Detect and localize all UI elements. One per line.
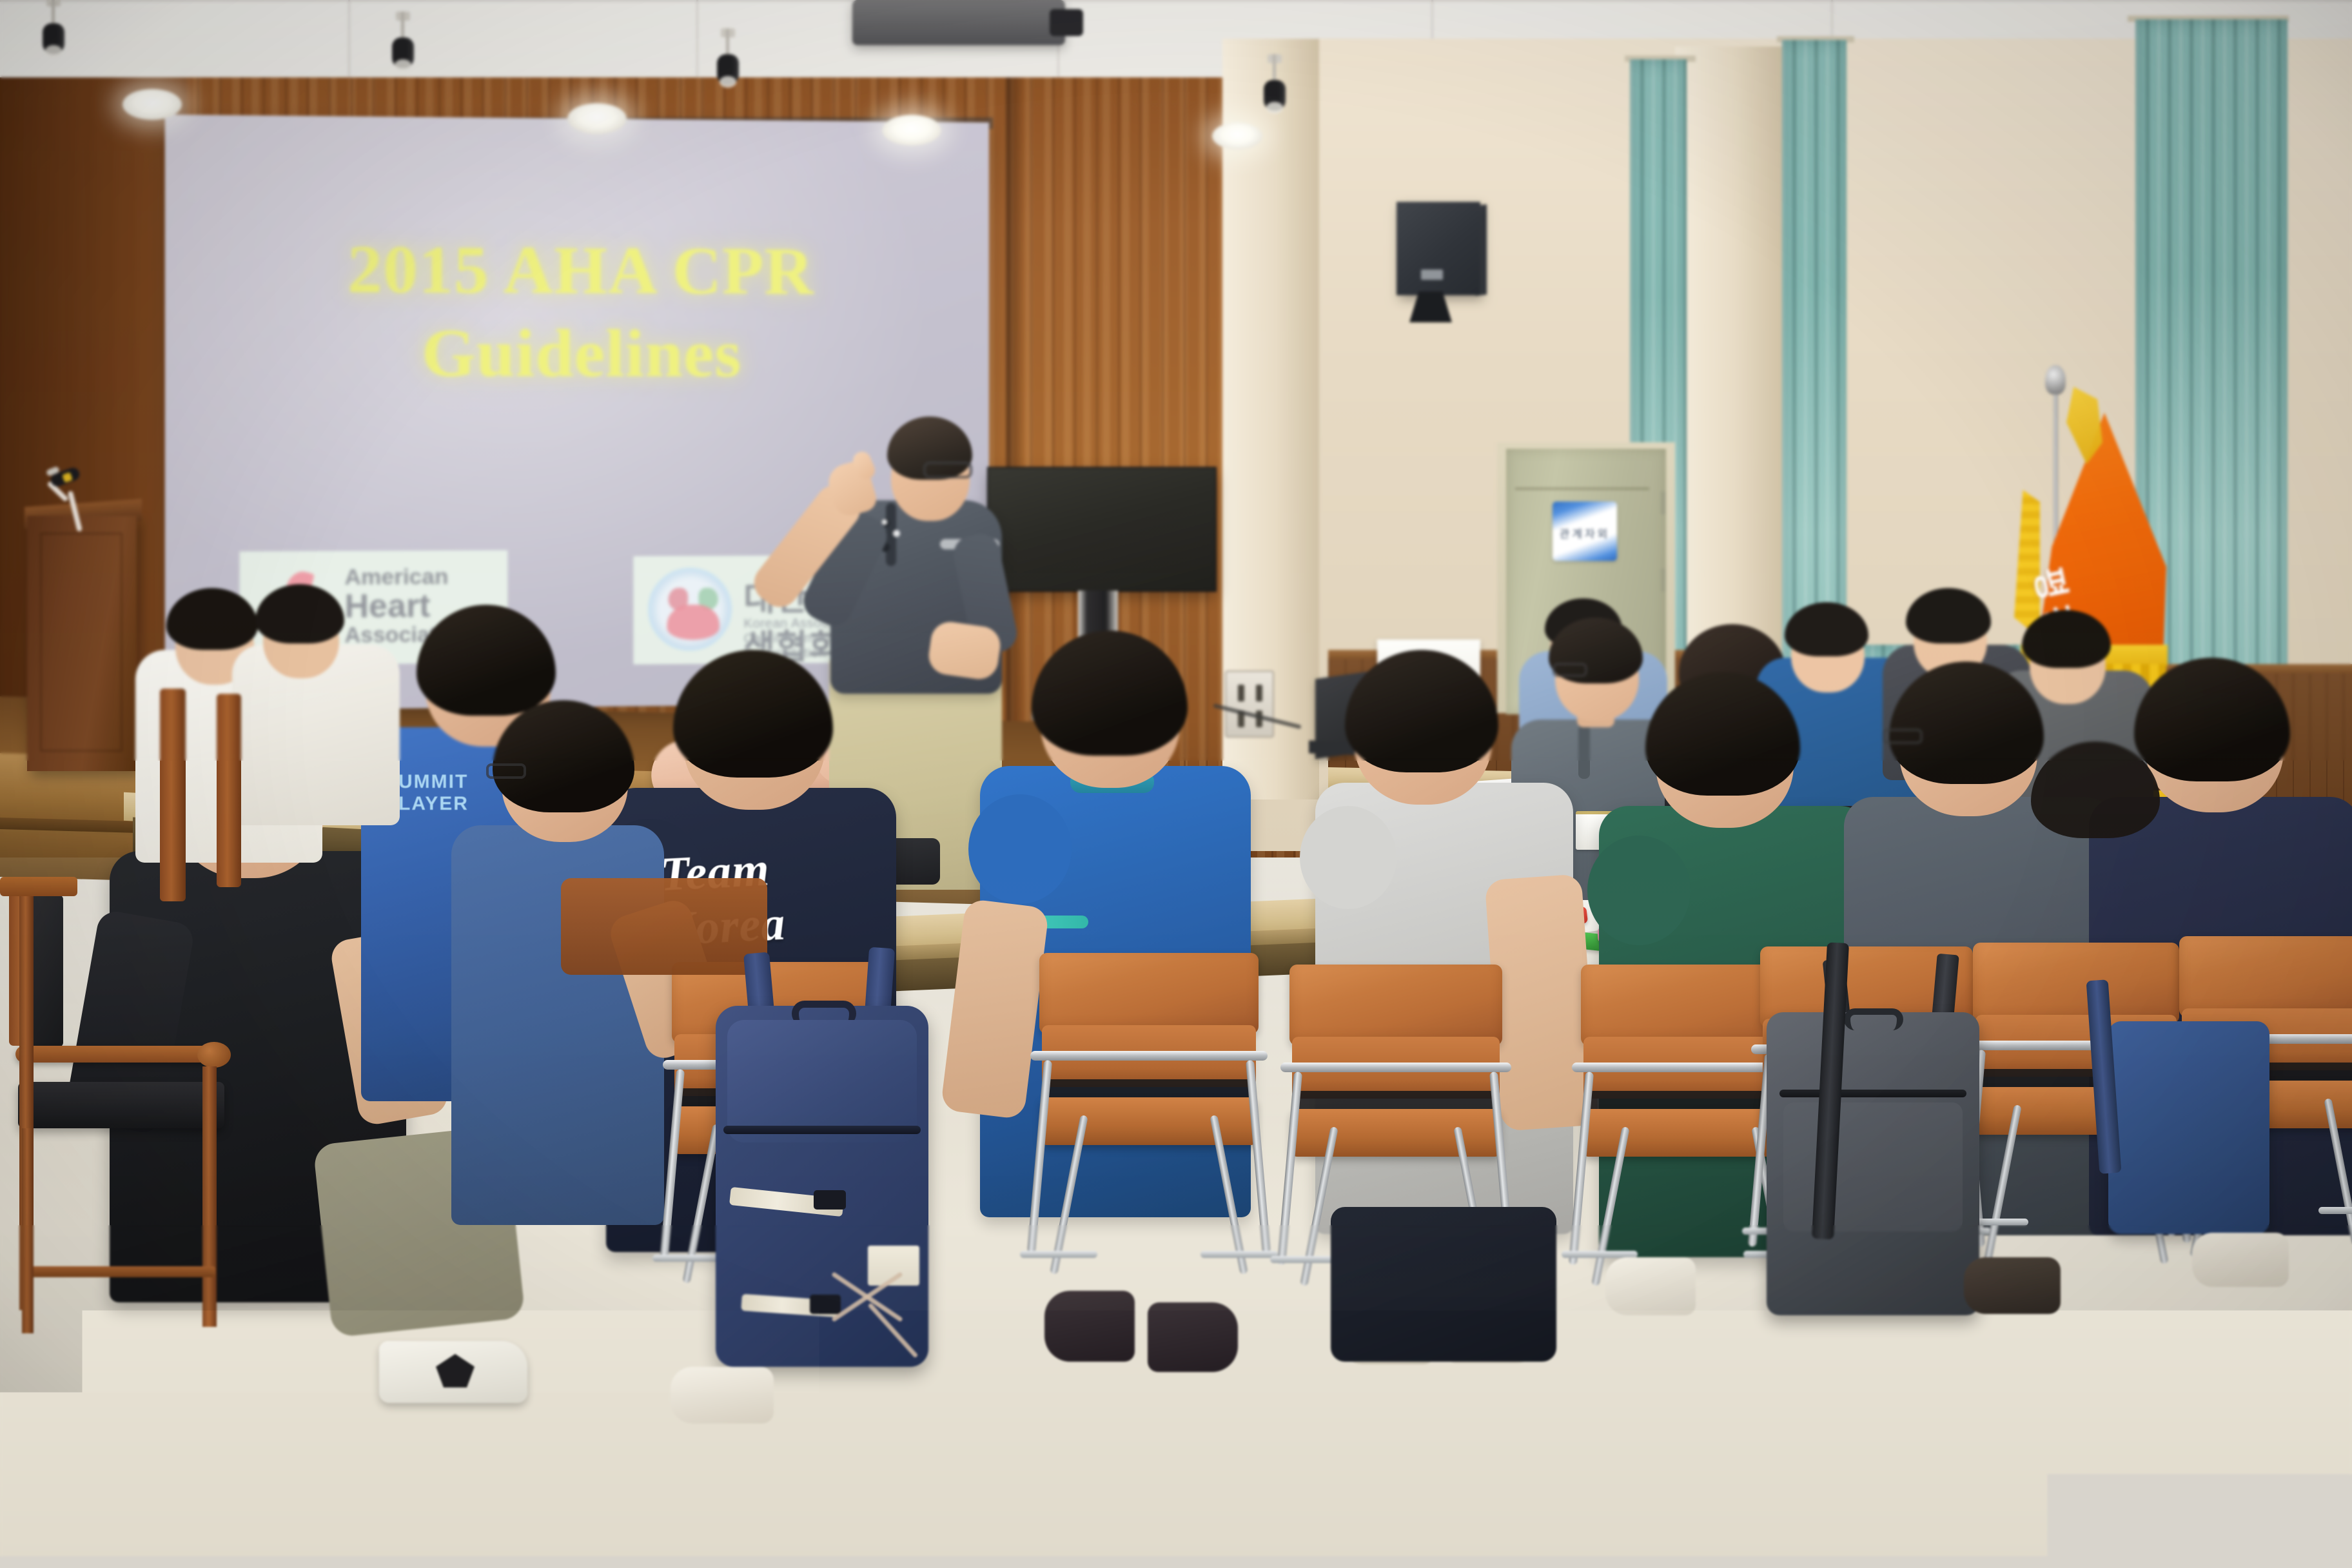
participant-shoulder bbox=[1300, 806, 1396, 909]
projector-lens-icon bbox=[1050, 9, 1083, 36]
participant-glasses bbox=[1553, 663, 1587, 677]
armchair-crest-rail bbox=[0, 877, 77, 896]
ceiling-projector bbox=[852, 0, 1065, 45]
recessed-downlight bbox=[882, 115, 941, 146]
wooden-armchair[interactable] bbox=[9, 885, 241, 1336]
slide-title-line-1: 2015 AHA CPR bbox=[165, 227, 989, 314]
door-sign-text: 관계자외 bbox=[1553, 525, 1617, 541]
slide-title-line-2: Guidelines bbox=[165, 311, 989, 396]
podium-front-panel bbox=[40, 533, 122, 752]
participant-shoe bbox=[1964, 1257, 2061, 1314]
participant-shoe bbox=[2192, 1233, 2289, 1287]
participant-shoe bbox=[1148, 1302, 1238, 1372]
door-hinge bbox=[1661, 491, 1666, 514]
recessed-downlight bbox=[122, 89, 182, 120]
navy-backpack[interactable] bbox=[716, 1006, 928, 1367]
door-sign: 관계자외 bbox=[1553, 502, 1617, 561]
backpack-front-panel bbox=[1783, 1102, 1963, 1231]
blue-shoulder-bag[interactable] bbox=[2108, 1021, 2269, 1234]
slide-title: 2015 AHA CPR Guidelines bbox=[165, 227, 989, 395]
backpack-lid bbox=[727, 1020, 917, 1142]
participant-glasses bbox=[486, 763, 526, 779]
aha-logo-line-1: American bbox=[344, 565, 469, 589]
participant-shoulder bbox=[968, 794, 1072, 904]
wooden-chair-back-post bbox=[160, 689, 186, 901]
kacpr-heart-lung-icon bbox=[648, 567, 732, 651]
polo-placket bbox=[1578, 725, 1590, 779]
recessed-downlight bbox=[1212, 122, 1262, 150]
gray-backpack[interactable] bbox=[1767, 1012, 1979, 1315]
backpack-handle bbox=[1844, 1008, 1903, 1030]
participant-shorts bbox=[1331, 1207, 1556, 1362]
strap-buckle bbox=[814, 1190, 846, 1210]
backpack-zipper[interactable] bbox=[723, 1126, 921, 1134]
participant-shoe bbox=[1605, 1257, 1696, 1315]
door-rail bbox=[1515, 487, 1649, 490]
door-hinge bbox=[1661, 569, 1666, 592]
wooden-chair-back-post bbox=[217, 694, 241, 887]
participant-shoulder bbox=[1587, 836, 1690, 945]
strap-buckle bbox=[810, 1295, 841, 1314]
speaker-brand-badge bbox=[1421, 269, 1443, 280]
flag-finial bbox=[2045, 365, 2066, 395]
recessed-downlight bbox=[567, 103, 627, 134]
participant-glasses bbox=[1883, 729, 1923, 744]
participant-shoe bbox=[671, 1367, 774, 1424]
backpack-zipper[interactable] bbox=[1779, 1090, 1966, 1097]
wooden-chair-back bbox=[561, 878, 767, 975]
backpack-bungee-cord bbox=[868, 1302, 919, 1358]
orange-chair[interactable] bbox=[1039, 953, 1259, 1269]
photograph-scene: 2015 AHA CPR Guidelines American Heart A… bbox=[0, 0, 2352, 1568]
wall-outlet-plate bbox=[1225, 671, 1274, 738]
presenter-glasses bbox=[923, 462, 972, 478]
television-screen bbox=[988, 468, 1215, 591]
participant-shoe bbox=[1044, 1291, 1135, 1362]
wall-speaker bbox=[1396, 202, 1480, 295]
